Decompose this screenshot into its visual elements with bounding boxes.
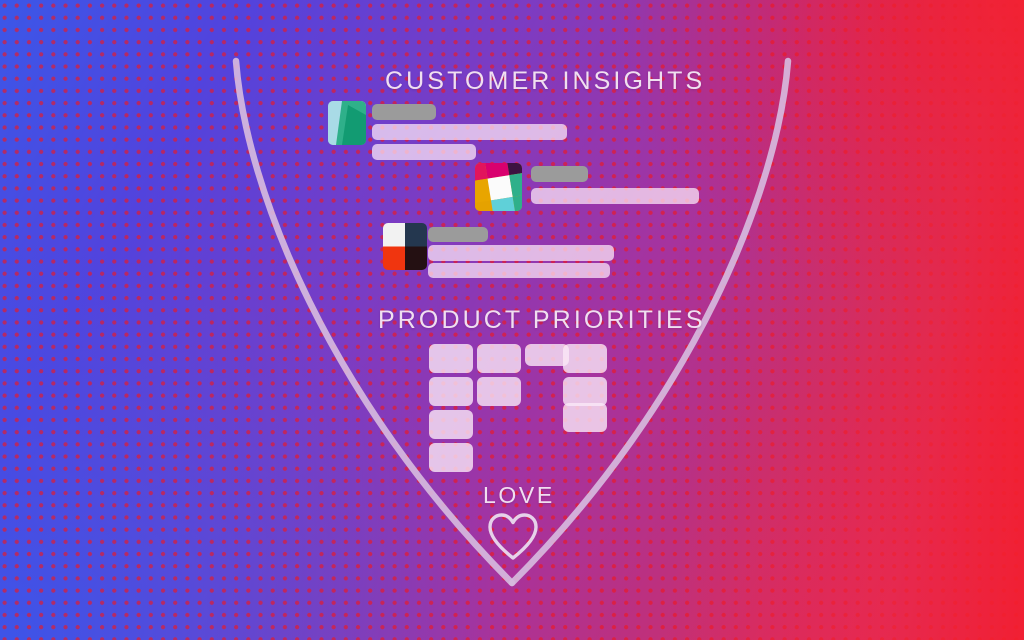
kanban-card[interactable]	[429, 443, 473, 472]
avatar-checker-quad	[383, 223, 427, 270]
poster-canvas: CUSTOMER INSIGHTS	[0, 0, 1024, 640]
insight-bar-title	[372, 104, 436, 120]
kanban-card[interactable]	[429, 377, 473, 406]
section-title-customer-insights: CUSTOMER INSIGHTS	[385, 67, 705, 96]
avatar-teal-geometric	[328, 101, 366, 145]
insight-bar-line	[372, 124, 567, 140]
kanban-card[interactable]	[477, 344, 521, 373]
avatar-colorblock-grid	[475, 163, 522, 211]
poster-content: CUSTOMER INSIGHTS	[0, 0, 1024, 640]
kanban-card[interactable]	[563, 403, 607, 432]
insight-bar-line	[428, 263, 610, 278]
kanban-card[interactable]	[563, 377, 607, 406]
section-title-product-priorities: PRODUCT PRIORITIES	[378, 306, 706, 335]
heart-outline-icon	[487, 512, 539, 562]
section-title-love: LOVE	[483, 482, 555, 509]
kanban-card[interactable]	[429, 344, 473, 373]
insight-bar-title	[531, 166, 588, 182]
kanban-card[interactable]	[477, 377, 521, 406]
insight-bar-line	[531, 188, 699, 204]
kanban-card[interactable]	[563, 344, 607, 373]
insight-bar-line	[372, 144, 476, 160]
insight-bar-title	[428, 227, 488, 242]
insight-bar-line	[428, 245, 614, 261]
kanban-card[interactable]	[429, 410, 473, 439]
